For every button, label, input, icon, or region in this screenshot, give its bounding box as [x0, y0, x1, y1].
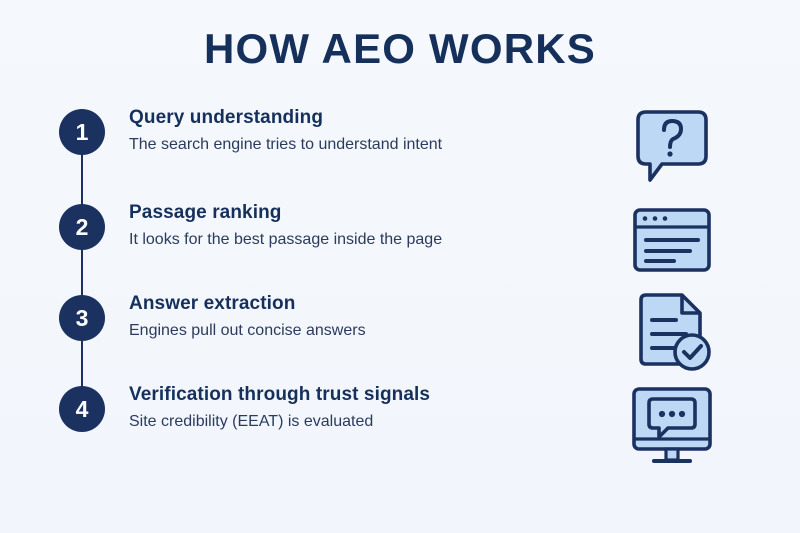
steps-list: 1 Query understanding The search engine …: [0, 0, 600, 533]
step-number-badge-3: 3: [59, 295, 105, 341]
step-title-4: Verification through trust signals: [129, 383, 589, 407]
step-title-2: Passage ranking: [129, 201, 589, 225]
step-title-1: Query understanding: [129, 106, 589, 130]
step-text-1: Query understanding The search engine tr…: [129, 106, 589, 156]
monitor-chat-icon: [624, 377, 720, 473]
step-number-badge-1: 1: [59, 109, 105, 155]
step-description-4: Site credibility (EEAT) is evaluated: [129, 412, 589, 433]
document-check-icon: [624, 284, 720, 380]
step-title-3: Answer extraction: [129, 292, 589, 316]
step-item-3: 3 Answer extraction Engines pull out con…: [0, 288, 600, 348]
step-text-3: Answer extraction Engines pull out conci…: [129, 292, 589, 342]
step-connector-line: [81, 132, 83, 409]
browser-window-icon: [624, 194, 720, 290]
step-item-1: 1 Query understanding The search engine …: [0, 102, 600, 162]
step-text-4: Verification through trust signals Site …: [129, 383, 589, 433]
step-item-2: 2 Passage ranking It looks for the best …: [0, 197, 600, 257]
step-description-2: It looks for the best passage inside the…: [129, 230, 589, 251]
step-number-badge-2: 2: [59, 204, 105, 250]
icons-column: [600, 0, 800, 533]
step-description-3: Engines pull out concise answers: [129, 321, 589, 342]
step-description-1: The search engine tries to understand in…: [129, 135, 589, 156]
step-number-badge-4: 4: [59, 386, 105, 432]
question-speech-bubble-icon: [624, 100, 720, 196]
step-item-4: 4 Verification through trust signals Sit…: [0, 379, 600, 439]
infographic-canvas: HOW AEO WORKS 1 Query understanding The …: [0, 0, 800, 533]
step-text-2: Passage ranking It looks for the best pa…: [129, 201, 589, 251]
